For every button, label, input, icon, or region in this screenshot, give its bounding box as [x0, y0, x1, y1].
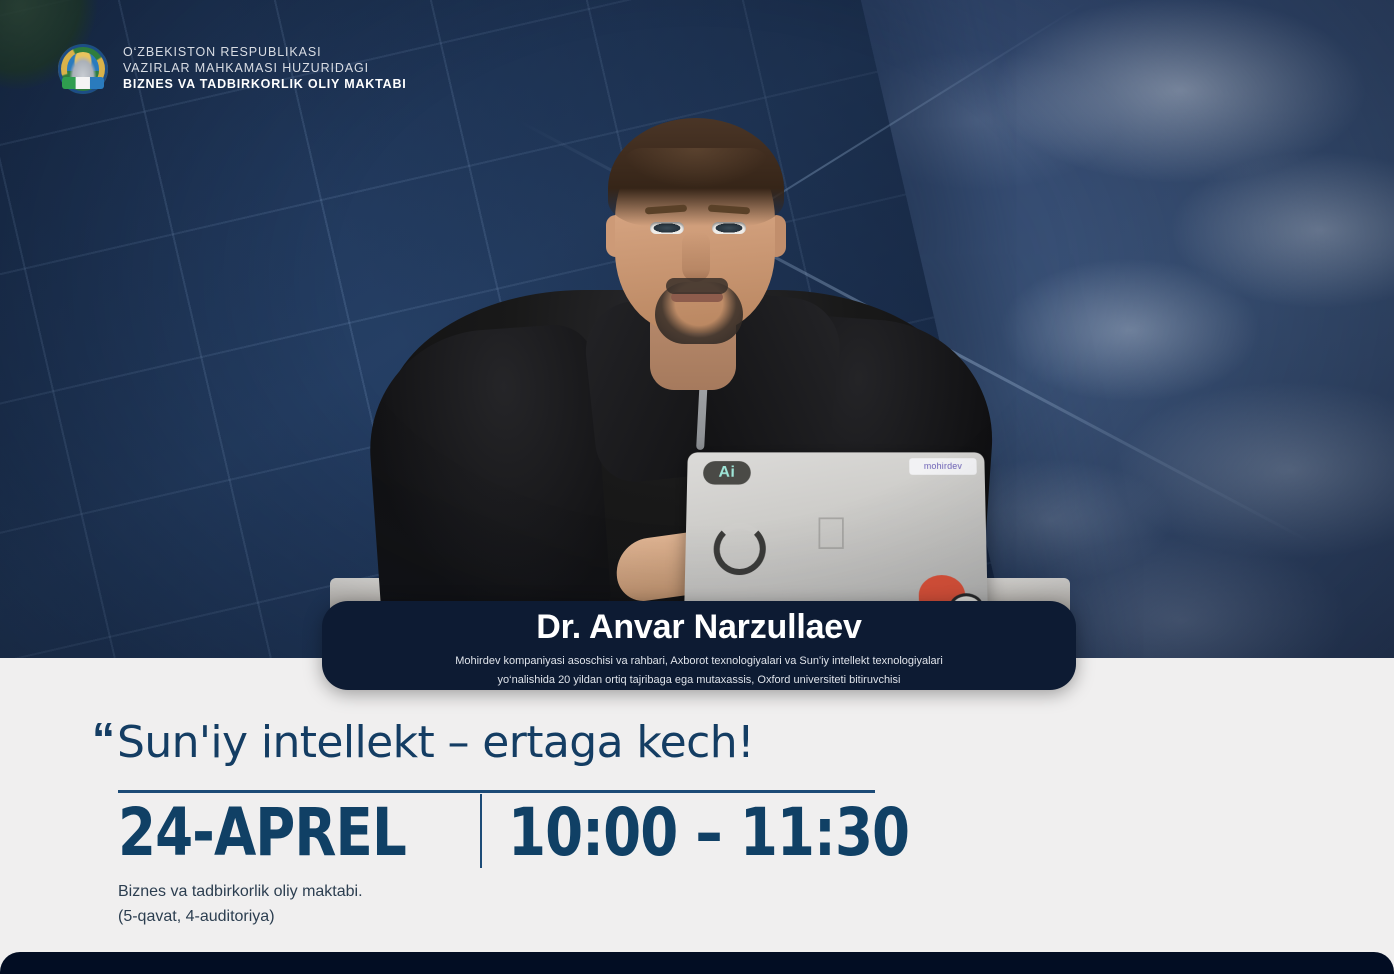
date-time-row: 24-APREL 10:00 – 11:30 — [118, 797, 944, 869]
event-venue: Biznes va tadbirkorlik oliy maktabi. (5-… — [118, 880, 363, 930]
photo-vignette — [0, 0, 1394, 658]
horizontal-divider — [118, 790, 875, 793]
speaker-description-line-2: yo‘nalishida 20 yildan ortiq tajribaga e… — [498, 674, 901, 686]
uzbekistan-state-emblem-icon — [58, 44, 108, 94]
venue-line-1: Biznes va tadbirkorlik oliy maktabi. — [118, 883, 363, 900]
bottom-bar — [0, 952, 1394, 974]
event-details: “ Sun'iy intellekt – ertaga kech! 24-APR… — [0, 658, 1394, 974]
institution-line-2: VAZIRLAR MAHKAMASI HUZURIDAGI — [123, 61, 407, 77]
institution-name: O‘ZBEKISTON RESPUBLIKASI VAZIRLAR MAHKAM… — [123, 45, 407, 93]
opening-quote-mark: “ — [92, 716, 115, 762]
institution-line-3: BIZNES VA TADBIRKORLIK OLIY MAKTABI — [123, 77, 407, 93]
speaker-name: Dr. Anvar Narzullaev — [536, 609, 861, 646]
speaker-name-banner: Dr. Anvar Narzullaev Mohirdev kompaniyas… — [322, 601, 1076, 690]
venue-line-2: (5-qavat, 4-auditoriya) — [118, 908, 275, 925]
speaker-description: Mohirdev kompaniyasi asoschisi va rahbar… — [455, 652, 943, 688]
speaker-description-line-1: Mohirdev kompaniyasi asoschisi va rahbar… — [455, 655, 943, 667]
institution-line-1: O‘ZBEKISTON RESPUBLIKASI — [123, 45, 407, 61]
event-time: 10:00 – 11:30 — [508, 797, 909, 869]
event-title-block: “ Sun'iy intellekt – ertaga kech! — [92, 720, 754, 766]
institution-logo: O‘ZBEKISTON RESPUBLIKASI VAZIRLAR MAHKAM… — [58, 44, 407, 94]
event-title: Sun'iy intellekt – ertaga kech! — [117, 720, 754, 766]
event-poster: Ai  mohirdev O‘ZBEKISTON RESPUBLIKASI V… — [0, 0, 1394, 974]
speaker-photo: Ai  mohirdev — [0, 0, 1394, 658]
event-date: 24-APREL — [118, 797, 431, 869]
